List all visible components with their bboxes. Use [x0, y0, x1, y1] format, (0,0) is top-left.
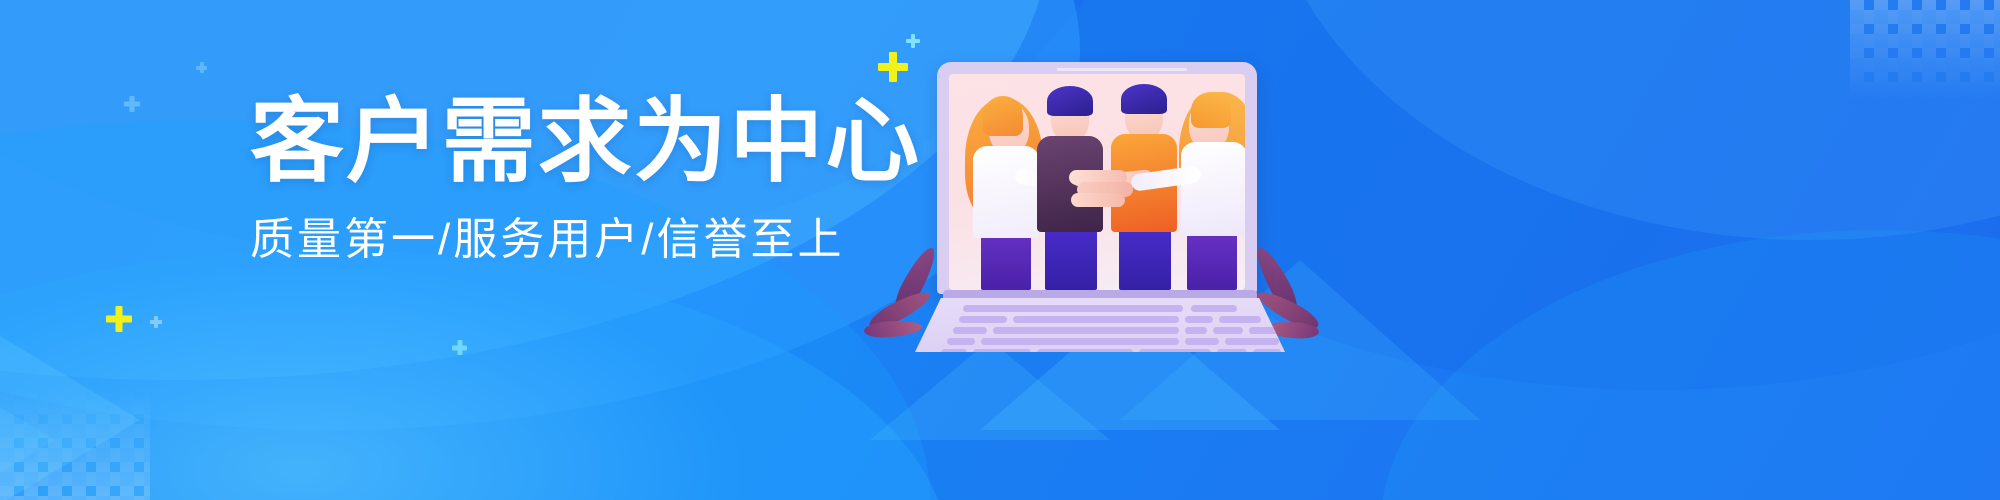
key — [1249, 327, 1279, 334]
person-4-top — [1181, 142, 1245, 236]
key — [981, 338, 1179, 345]
key — [1225, 338, 1279, 345]
key — [1037, 349, 1133, 356]
plus-cyan-lower-icon — [452, 340, 467, 355]
plus-soft-left-top-icon — [124, 96, 140, 112]
page-subtitle: 质量第一/服务用户/信誉至上 — [250, 218, 908, 262]
promotional-banner: 客户需求为中心 质量第一/服务用户/信誉至上 — [0, 0, 2000, 500]
key — [1219, 316, 1261, 323]
key — [1253, 349, 1281, 356]
person-1-hair-front — [983, 96, 1023, 136]
laptop-illustration — [915, 62, 1285, 352]
key — [1013, 316, 1179, 323]
background-wave-right-light — [1260, 0, 2000, 240]
laptop-lid — [937, 62, 1257, 294]
square-grid-top-right-icon — [1850, 0, 2000, 100]
key — [1185, 316, 1213, 323]
background-wave-bottom-right — [1380, 230, 2000, 500]
plus-yellow-bottom-icon — [106, 306, 132, 332]
plus-soft-left-mid-icon — [196, 62, 207, 73]
chevron-accent-2 — [0, 330, 55, 500]
key — [1213, 327, 1243, 334]
laptop-base — [915, 290, 1285, 352]
person-2-hair — [1047, 86, 1093, 116]
key — [947, 338, 975, 345]
page-title: 客户需求为中心 — [250, 96, 921, 188]
key — [1185, 327, 1207, 334]
background-glow — [0, 260, 750, 500]
key — [993, 327, 1179, 334]
key — [973, 349, 1031, 356]
stacked-hands — [1069, 170, 1141, 210]
key — [959, 316, 1007, 323]
laptop-keyboard-deck — [915, 298, 1285, 352]
key — [941, 349, 967, 356]
key — [1191, 305, 1237, 312]
laptop-camera-bar — [1057, 68, 1187, 71]
laptop-hinge-bar — [943, 290, 1257, 299]
laptop-screen — [949, 74, 1245, 290]
plus-cyan-small-icon — [906, 34, 920, 48]
person-4-hair-front — [1191, 92, 1231, 128]
zigzag-accent-3 — [870, 340, 1110, 440]
square-grid-bottom-left-icon — [0, 390, 150, 500]
person-4-woman-blonde — [1163, 78, 1245, 290]
plus-soft-bottom-icon — [150, 316, 162, 328]
key — [963, 305, 1183, 312]
key — [1185, 338, 1219, 345]
person-3-hair — [1121, 84, 1167, 114]
key — [953, 327, 987, 334]
key — [1217, 349, 1247, 356]
headline-block: 客户需求为中心 质量第一/服务用户/信誉至上 — [250, 96, 908, 262]
plus-yellow-large-icon — [878, 52, 908, 82]
background-wave-bottom-left — [0, 250, 950, 500]
key — [1139, 349, 1211, 356]
